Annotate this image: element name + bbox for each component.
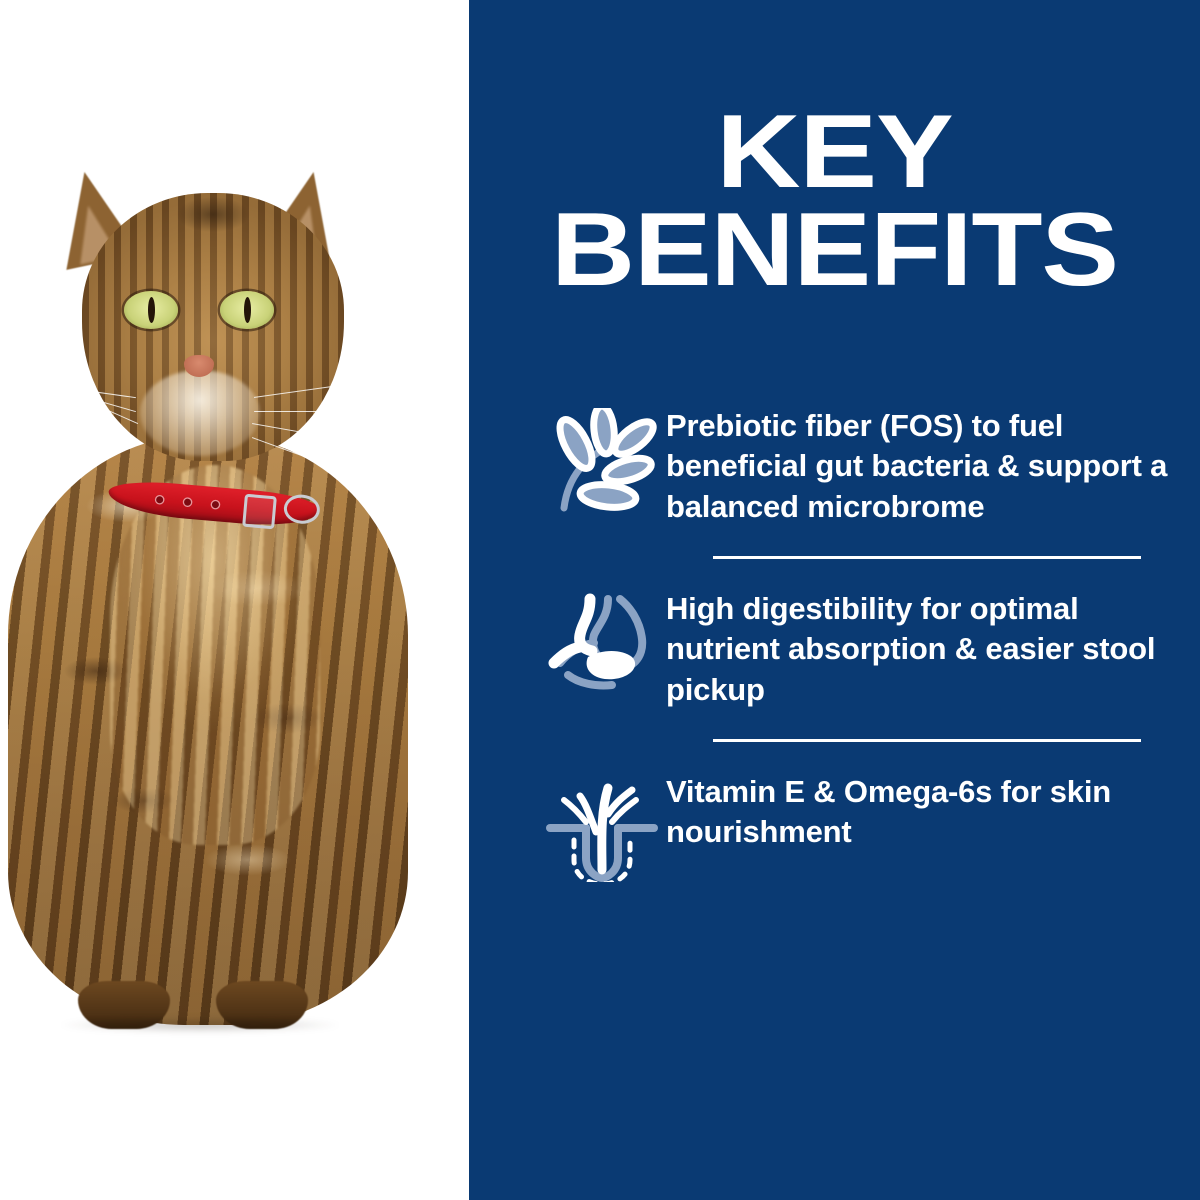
page-title-line-2: BENEFITS <box>425 202 1200 300</box>
benefit-item-high-digestibility: High digestibility for optimal nutrient … <box>469 581 1200 717</box>
benefits-list: Prebiotic fiber (FOS) to fuel beneficial… <box>469 396 1200 900</box>
cat-photo-panel <box>0 0 469 1200</box>
benefit-divider <box>713 556 1141 559</box>
sprout-leaves-icon <box>541 398 663 534</box>
benefit-text-vitamin-e-omega: Vitamin E & Omega-6s for skin nourishmen… <box>663 764 1168 853</box>
stomach-icon <box>541 581 663 717</box>
collar-hole <box>156 496 164 504</box>
cat-eye-right <box>220 291 274 329</box>
cat-pupil-left <box>148 297 155 323</box>
key-benefits-panel: KEY BENEFITS <box>0 0 1200 1200</box>
page-title-line-1: KEY <box>425 104 1200 202</box>
collar-hole <box>212 501 220 509</box>
benefit-text-high-digestibility: High digestibility for optimal nutrient … <box>663 581 1168 710</box>
hair-follicle-icon <box>541 764 663 900</box>
cat-ground-shadow <box>60 1017 340 1033</box>
cat-eye-left <box>124 291 178 329</box>
benefit-text-prebiotic-fiber: Prebiotic fiber (FOS) to fuel beneficial… <box>663 398 1168 527</box>
collar-hole <box>184 498 192 506</box>
benefit-divider <box>713 739 1141 742</box>
cat-muzzle <box>140 370 260 456</box>
cat-pupil-right <box>244 297 251 323</box>
benefit-item-prebiotic-fiber: Prebiotic fiber (FOS) to fuel beneficial… <box>469 398 1200 534</box>
page-title: KEY BENEFITS <box>425 104 1200 300</box>
benefit-item-vitamin-e-omega: Vitamin E & Omega-6s for skin nourishmen… <box>469 764 1200 900</box>
cat-whisker <box>254 411 426 412</box>
cat-photo <box>0 165 460 1035</box>
benefits-panel: KEY BENEFITS <box>469 0 1200 1200</box>
collar-buckle <box>242 494 277 530</box>
